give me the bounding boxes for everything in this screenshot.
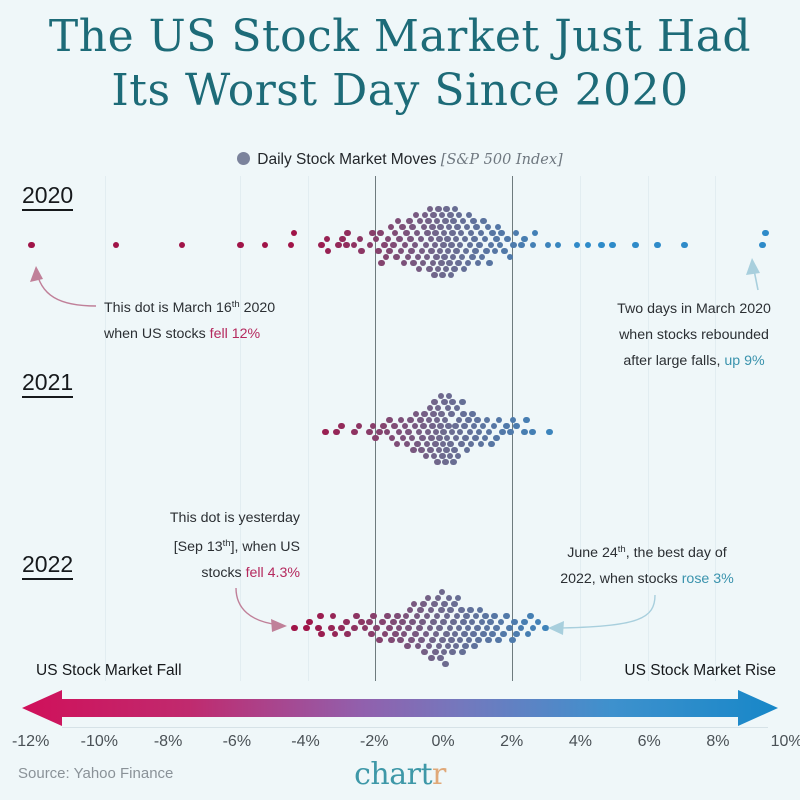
swarm-dot — [483, 248, 490, 255]
swarm-dot — [357, 236, 364, 243]
swarm-dot — [417, 417, 424, 424]
swarm-dot — [465, 260, 472, 267]
swarm-dot — [404, 441, 411, 448]
swarm-dot — [442, 417, 449, 424]
swarm-dot — [442, 661, 449, 668]
swarm-dot — [383, 254, 390, 261]
swarm-dot — [400, 435, 407, 442]
swarm-dot — [421, 649, 428, 656]
swarm-dot — [338, 423, 345, 430]
swarm-dot — [465, 417, 472, 424]
swarm-dot — [450, 218, 457, 225]
swarm-dot — [426, 266, 433, 273]
swarm-dot — [433, 254, 440, 261]
swarm-dot — [410, 447, 417, 454]
swarm-dot — [459, 254, 466, 261]
axis-tick-neg2: -2% — [360, 733, 388, 751]
swarm-dot — [412, 242, 419, 249]
swarm-dot — [351, 242, 358, 249]
axis-tick-0: 0% — [431, 733, 454, 751]
swarm-dot — [458, 230, 465, 237]
swarm-dot — [356, 423, 363, 430]
swarm-dot — [367, 242, 374, 249]
swarm-dot — [458, 607, 465, 614]
swarm-dot — [460, 619, 467, 626]
swarm-dot — [451, 266, 458, 273]
swarm-dot — [420, 601, 427, 608]
swarm-dot — [518, 625, 525, 632]
swarm-dot — [459, 399, 466, 406]
swarm-dot — [358, 248, 365, 255]
swarm-dot — [442, 218, 449, 225]
curved-arrow-left-icon — [0, 0, 800, 800]
swarm-dot — [513, 230, 520, 237]
swarm-dot — [358, 619, 365, 626]
swarm-dot — [468, 441, 475, 448]
swarm-dot — [482, 236, 489, 243]
swarm-dot — [449, 649, 456, 656]
year-label-2020: 2020 — [22, 183, 73, 211]
swarm-dot — [495, 637, 502, 644]
swarm-dot — [424, 230, 431, 237]
swarm-dot — [432, 649, 439, 656]
swarm-dot — [415, 643, 422, 650]
swarm-dot — [430, 212, 437, 219]
faint-gridline — [648, 176, 649, 681]
swarm-dot — [396, 236, 403, 243]
swarm-dot — [455, 595, 462, 602]
swarm-dot — [444, 435, 451, 442]
swarm-dot — [381, 242, 388, 249]
swarm-dot — [399, 224, 406, 231]
swarm-dot — [423, 453, 430, 460]
swarm-dot — [418, 447, 425, 454]
swarm-dot — [486, 429, 493, 436]
swarm-dot — [416, 266, 423, 273]
swarm-dot — [440, 242, 447, 249]
swarm-dot — [476, 242, 483, 249]
swarm-dot — [462, 236, 469, 243]
annotation-highlight: rose 3% — [682, 571, 734, 587]
swarm-dot — [439, 453, 446, 460]
swarm-dot — [477, 607, 484, 614]
faint-gridline — [308, 176, 309, 681]
swarm-dot — [546, 429, 553, 436]
swarm-dot — [430, 619, 437, 626]
swarm-dot — [351, 625, 358, 632]
swarm-dot — [453, 248, 460, 255]
swarm-dot — [417, 218, 424, 225]
swarm-dot — [447, 212, 454, 219]
faint-gridline — [240, 176, 241, 681]
swarm-dot — [462, 435, 469, 442]
swarm-dot — [423, 242, 430, 249]
swarm-dot — [449, 230, 456, 237]
swarm-dot — [324, 236, 331, 243]
annotation-march-16-2020: This dot is March 16th 2020when US stock… — [104, 292, 275, 347]
swarm-dot — [403, 230, 410, 237]
brand-main: chart — [354, 757, 432, 792]
swarm-dot — [325, 248, 332, 255]
swarm-dot — [420, 260, 427, 267]
swarm-dot — [368, 631, 375, 638]
swarm-dot — [424, 254, 431, 261]
swarm-dot — [438, 393, 445, 400]
swarm-dot — [394, 613, 401, 620]
swarm-dot — [386, 248, 393, 255]
swarm-dot — [465, 625, 472, 632]
swarm-dot — [447, 607, 454, 614]
swarm-dot — [431, 453, 438, 460]
swarm-dot — [450, 254, 457, 261]
swarm-dot — [654, 242, 661, 249]
swarm-dot — [424, 441, 431, 448]
swarm-dot — [335, 242, 342, 249]
page-title: The US Stock Market Just Had Its Worst D… — [0, 10, 800, 118]
swarm-dot — [471, 423, 478, 430]
swarm-dot — [407, 607, 414, 614]
swarm-dot — [486, 260, 493, 267]
swarm-dot — [390, 242, 397, 249]
swarm-dot — [409, 224, 416, 231]
swarm-dot — [468, 230, 475, 237]
swarm-dot — [480, 423, 487, 430]
swarm-dot — [521, 429, 528, 436]
axis-tick-neg8: -8% — [154, 733, 182, 751]
swarm-dot — [437, 248, 444, 255]
swarm-dot — [432, 230, 439, 237]
curved-arrow-right-icon — [0, 0, 800, 800]
swarm-dot — [428, 236, 435, 243]
swarm-dot — [484, 625, 491, 632]
swarm-dot — [427, 447, 434, 454]
swarm-dot — [405, 429, 412, 436]
swarm-dot — [412, 423, 419, 430]
circle-dot-icon — [237, 152, 250, 165]
swarm-dot — [426, 643, 433, 650]
swarm-dot — [487, 619, 494, 626]
swarm-dot — [456, 417, 463, 424]
swarm-dot — [545, 242, 552, 249]
swarm-dot — [475, 637, 482, 644]
year-label-2021: 2021 — [22, 370, 73, 398]
axis-tick-4: 4% — [569, 733, 592, 751]
swarm-dot — [439, 589, 446, 596]
title-line-2: Its Worst Day Since 2020 — [0, 64, 800, 118]
swarm-dot — [632, 242, 639, 249]
swarm-dot — [438, 411, 445, 418]
swarm-dot — [416, 625, 423, 632]
legend-label: Daily Stock Market Moves — [257, 151, 436, 168]
swarm-dot — [366, 429, 373, 436]
swarm-dot — [399, 619, 406, 626]
annotation-march-2020-rebound: Two days in March 2020when stocks reboun… — [596, 296, 792, 374]
swarm-dot — [427, 405, 434, 412]
swarm-dot — [470, 631, 477, 638]
swarm-dot — [418, 637, 425, 644]
swarm-dot — [497, 242, 504, 249]
chartr-logo: chartr — [0, 757, 800, 792]
swarm-dot — [493, 236, 500, 243]
swarm-dot — [448, 272, 455, 279]
annotation-june-24-2022: June 24th, the best day of2022, when sto… — [540, 537, 754, 592]
annotation-line: Two days in March 2020 — [596, 296, 792, 322]
swarm-dot — [457, 429, 464, 436]
swarm-dot — [332, 631, 339, 638]
swarm-dot — [410, 260, 417, 267]
swarm-dot — [462, 643, 469, 650]
swarm-dot — [338, 625, 345, 632]
swarm-dot — [434, 459, 441, 466]
swarm-dot — [315, 625, 322, 632]
swarm-dot — [527, 613, 534, 620]
swarm-dot — [444, 236, 451, 243]
swarm-dot — [466, 637, 473, 644]
swarm-dot — [523, 417, 530, 424]
swarm-dot — [431, 601, 438, 608]
swarm-dot — [493, 625, 500, 632]
swarm-dot — [421, 411, 428, 418]
swarm-dot — [504, 236, 511, 243]
annotation-line: when stocks rebounded — [596, 322, 792, 348]
swarm-dot — [455, 260, 462, 267]
swarm-dot — [479, 619, 486, 626]
swarm-dot — [436, 236, 443, 243]
swarm-dot — [446, 224, 453, 231]
swarm-dot — [445, 248, 452, 255]
swarm-dot — [489, 631, 496, 638]
swarm-dot — [485, 224, 492, 231]
swarm-dot — [598, 242, 605, 249]
swarm-dot — [430, 411, 437, 418]
swarm-dot — [382, 631, 389, 638]
swarm-dot — [414, 230, 421, 237]
swarm-dot — [488, 242, 495, 249]
swarm-dot — [434, 417, 441, 424]
swarm-dot — [475, 260, 482, 267]
swarm-dot — [485, 637, 492, 644]
swarm-dot — [467, 242, 474, 249]
swarm-dot — [429, 423, 436, 430]
annotation-line: [Sep 13th], when US — [110, 531, 300, 560]
swarm-dot — [464, 224, 471, 231]
swarm-dot — [413, 411, 420, 418]
swarm-dot — [339, 236, 346, 243]
swarm-dot — [457, 637, 464, 644]
swarm-dot — [388, 224, 395, 231]
swarm-dot — [113, 242, 120, 249]
swarm-dot — [430, 260, 437, 267]
swarm-dot — [499, 429, 506, 436]
swarm-dot — [759, 242, 766, 249]
swarm-dot — [491, 613, 498, 620]
swarm-dot — [414, 613, 421, 620]
swarm-dot — [491, 423, 498, 430]
swarm-dot — [474, 417, 481, 424]
swarm-dot — [429, 224, 436, 231]
swarm-dot — [434, 613, 441, 620]
swarm-dot — [386, 417, 393, 424]
swarm-dot — [288, 242, 295, 249]
swarm-dot — [435, 206, 442, 213]
swarm-dot — [470, 218, 477, 225]
swarm-dot — [454, 613, 461, 620]
swarm-dot — [428, 655, 435, 662]
swarm-dot — [333, 429, 340, 436]
swarm-dot — [442, 459, 449, 466]
swarm-dot — [457, 242, 464, 249]
swarm-dot — [441, 601, 448, 608]
swarm-dot — [402, 423, 409, 430]
swarm-dot — [419, 619, 426, 626]
swarm-dot — [428, 607, 435, 614]
swarm-dot — [409, 435, 416, 442]
swarm-dot — [489, 230, 496, 237]
swarm-dot — [291, 230, 298, 237]
swarm-dot — [452, 423, 459, 430]
swarm-dot — [482, 613, 489, 620]
swarm-dot — [376, 637, 383, 644]
swarm-dot — [443, 266, 450, 273]
swarm-dot — [425, 595, 432, 602]
swarm-dot — [384, 613, 391, 620]
swarm-dot — [353, 613, 360, 620]
swarm-dot — [521, 236, 528, 243]
swarm-dot — [498, 619, 505, 626]
swarm-dot — [384, 429, 391, 436]
swarm-dot — [529, 429, 536, 436]
swarm-dot — [440, 619, 447, 626]
swarm-dot — [396, 625, 403, 632]
swarm-dot — [436, 643, 443, 650]
swarm-dot — [467, 429, 474, 436]
swarm-dot — [376, 429, 383, 436]
swarm-dot — [460, 411, 467, 418]
swarm-dot — [408, 248, 415, 255]
swarm-dot — [463, 613, 470, 620]
swarm-dot — [401, 631, 408, 638]
swarm-dot — [480, 631, 487, 638]
swarm-dot — [417, 607, 424, 614]
swarm-dot — [488, 441, 495, 448]
faint-gridline — [105, 176, 106, 681]
swarm-dot — [386, 625, 393, 632]
swarm-dot — [343, 242, 350, 249]
swarm-dot — [395, 218, 402, 225]
legend-sublabel: [S&P 500 Index] — [441, 152, 563, 168]
swarm-dot — [469, 619, 476, 626]
swarm-dot — [407, 236, 414, 243]
swarm-dot — [414, 441, 421, 448]
swarm-dot — [413, 212, 420, 219]
swarm-dot — [498, 230, 505, 237]
swarm-dot — [513, 631, 520, 638]
swarm-dot — [344, 230, 351, 237]
swarm-dot — [530, 625, 537, 632]
swarm-dot — [419, 435, 426, 442]
axis-tick-8: 8% — [706, 733, 729, 751]
axis-tick-neg12: -12% — [12, 733, 49, 751]
swarm-dot — [428, 248, 435, 255]
swarm-dot — [478, 230, 485, 237]
swarm-dot — [389, 435, 396, 442]
swarm-dot — [496, 417, 503, 424]
swarm-dot — [432, 441, 439, 448]
swarm-dot — [438, 607, 445, 614]
swarm-dot — [466, 212, 473, 219]
swarm-dot — [451, 601, 458, 608]
swarm-dot — [476, 429, 483, 436]
title-line-1: The US Stock Market Just Had — [49, 11, 751, 62]
swarm-dot — [344, 631, 351, 638]
swarm-dot — [464, 447, 471, 454]
swarm-dot — [446, 393, 453, 400]
swarm-dot — [435, 266, 442, 273]
swarm-dot — [446, 595, 453, 602]
swarm-dot — [427, 206, 434, 213]
swarm-dot — [433, 429, 440, 436]
swarm-dot — [440, 441, 447, 448]
swarm-dot — [450, 459, 457, 466]
swarm-dot — [390, 619, 397, 626]
swarm-dot — [471, 643, 478, 650]
swarm-dot — [441, 399, 448, 406]
year-label-2022: 2022 — [22, 552, 73, 580]
swarm-dot — [439, 212, 446, 219]
swarm-dot — [447, 453, 454, 460]
swarm-dot — [423, 631, 430, 638]
swarm-dot — [362, 625, 369, 632]
swarm-dot — [503, 613, 510, 620]
swarm-dot — [291, 625, 298, 632]
swarm-dot — [452, 631, 459, 638]
swarm-dot — [415, 254, 422, 261]
swarm-dot — [469, 254, 476, 261]
swarm-dot — [433, 631, 440, 638]
swarm-dot — [469, 411, 476, 418]
annotation-line: June 24th, the best day of — [540, 537, 754, 566]
swarm-dot — [435, 595, 442, 602]
legend: Daily Stock Market Moves [S&P 500 Index] — [0, 151, 800, 169]
swarm-dot — [521, 619, 528, 626]
faint-gridline — [580, 176, 581, 681]
swarm-dot — [434, 218, 441, 225]
swarm-dot — [411, 601, 418, 608]
swarm-dot — [461, 631, 468, 638]
swarm-dot — [421, 224, 428, 231]
swarm-dot — [446, 260, 453, 267]
swarm-dot — [449, 429, 456, 436]
swarm-dot — [406, 218, 413, 225]
swarm-dot — [530, 242, 537, 249]
swarm-dot — [398, 417, 405, 424]
swarm-dot — [437, 655, 444, 662]
swarm-dot — [460, 218, 467, 225]
swarm-dot — [474, 625, 481, 632]
swarm-dot — [408, 637, 415, 644]
swarm-dot — [518, 242, 525, 249]
swarm-dot — [412, 631, 419, 638]
swarm-dot — [425, 429, 432, 436]
swarm-dot — [398, 248, 405, 255]
beeswarm-plot — [0, 0, 800, 800]
swarm-dot — [28, 242, 35, 249]
swarm-dot — [351, 429, 358, 436]
swarm-dot — [318, 242, 325, 249]
swarm-dot — [500, 631, 507, 638]
swarm-dot — [403, 613, 410, 620]
annotation-line: when US stocks fell 12% — [104, 321, 275, 347]
